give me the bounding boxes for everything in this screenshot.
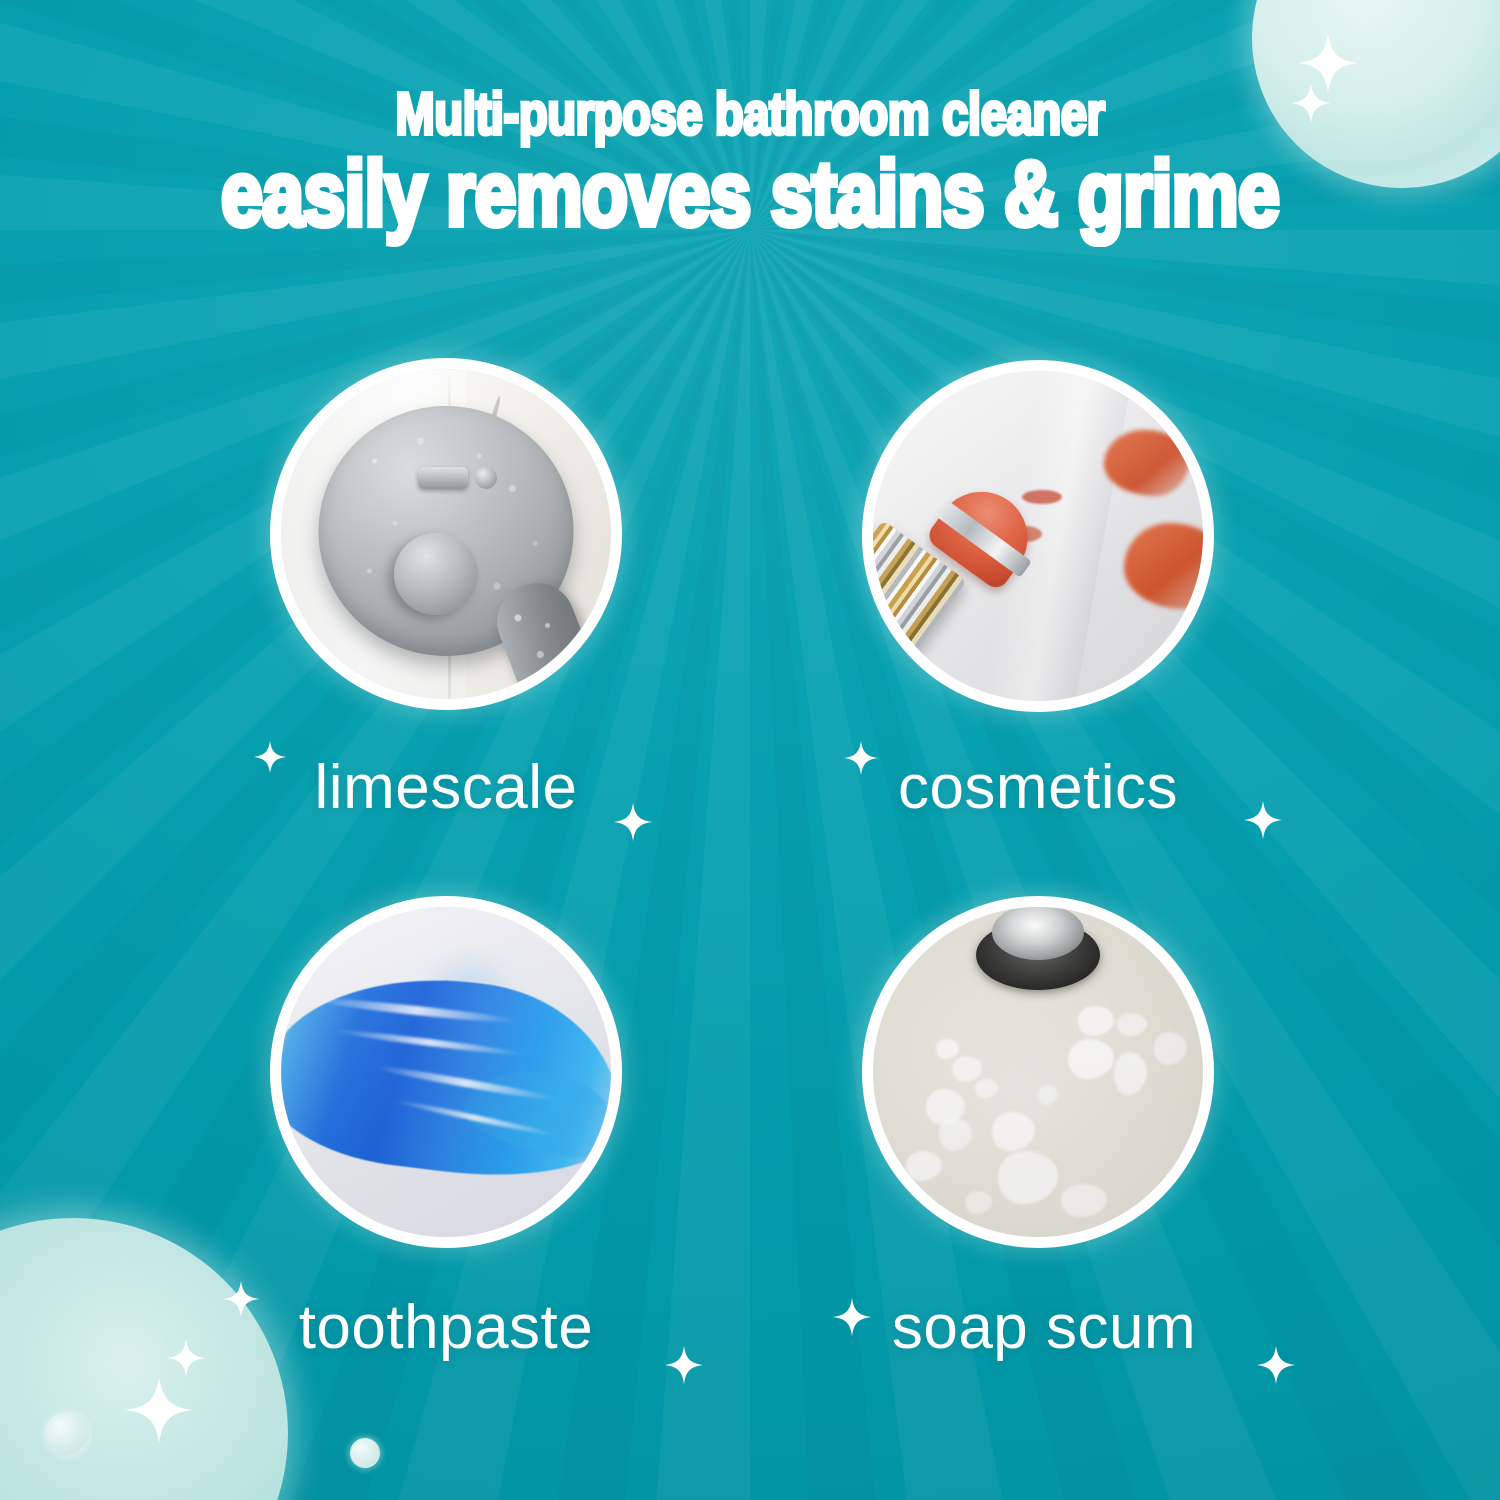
valve-hub bbox=[394, 533, 478, 615]
product-infographic: Multi-purpose bathroom cleaner easily re… bbox=[0, 0, 1500, 1500]
photo-limescale bbox=[270, 358, 622, 710]
label-toothpaste: toothpaste bbox=[166, 1292, 726, 1363]
headline-line-2: easily removes stains & grime bbox=[135, 150, 1365, 238]
label-soap-scum: soap scum bbox=[764, 1292, 1324, 1363]
valve-knob-cap bbox=[475, 467, 497, 489]
label-limescale: limescale bbox=[166, 752, 726, 823]
headline-block: Multi-purpose bathroom cleaner easily re… bbox=[0, 86, 1500, 238]
photo-cosmetics bbox=[862, 360, 1214, 712]
photo-soap-scum bbox=[862, 896, 1214, 1248]
photo-toothpaste bbox=[270, 896, 622, 1248]
headline-line-1: Multi-purpose bathroom cleaner bbox=[150, 86, 1350, 144]
valve-knob bbox=[418, 467, 468, 489]
powder-speck-1 bbox=[1022, 490, 1062, 504]
label-cosmetics: cosmetics bbox=[758, 752, 1318, 823]
